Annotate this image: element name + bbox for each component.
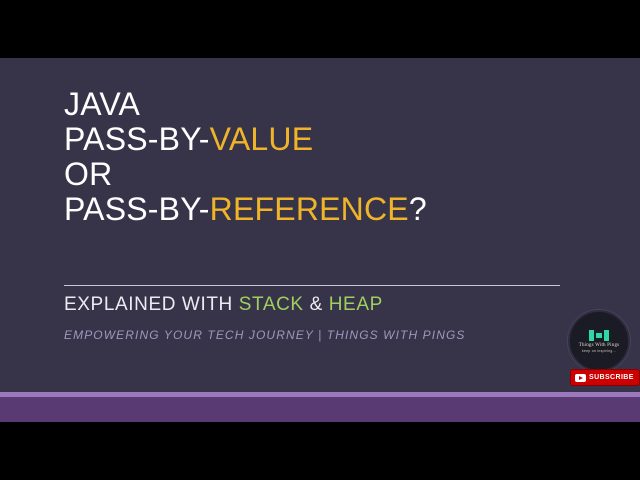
subtitle-separator: & — [304, 294, 329, 315]
channel-logo: Things With Pings keep on inspiring... — [568, 310, 630, 372]
title-divider — [64, 285, 560, 286]
title-line-3: OR — [64, 157, 564, 192]
title-line-4-plain: PASS-BY- — [64, 191, 210, 227]
title-line-1: JAVA — [64, 87, 564, 122]
subscribe-button-label: SUBSCRIBE — [589, 374, 634, 381]
subscribe-button[interactable]: SUBSCRIBE — [571, 370, 639, 385]
title-line-3-text: OR — [64, 156, 112, 192]
slide-canvas: JAVA PASS-BY-VALUE OR PASS-BY-REFERENCE?… — [0, 58, 640, 422]
subtitle-term-stack: STACK — [239, 294, 304, 315]
channel-logo-name: Things With Pings — [579, 343, 620, 348]
title-line-1-text: JAVA — [64, 86, 140, 122]
title-line-4-suffix: ? — [409, 191, 427, 227]
title-line-2-plain: PASS-BY- — [64, 121, 210, 157]
accent-band-dark — [0, 397, 640, 422]
title-line-2: PASS-BY-VALUE — [64, 122, 564, 157]
title-line-4: PASS-BY-REFERENCE? — [64, 192, 564, 227]
brand-mark-icon — [589, 330, 609, 341]
subtitle-term-heap: HEAP — [329, 294, 383, 315]
tagline: EMPOWERING YOUR TECH JOURNEY | THINGS WI… — [64, 327, 466, 343]
letterbox-bottom — [0, 422, 640, 480]
youtube-play-icon — [575, 374, 586, 382]
title-line-2-highlight: VALUE — [210, 121, 314, 157]
subtitle-prefix: EXPLAINED WITH — [64, 294, 239, 315]
letterbox-top — [0, 0, 640, 58]
subtitle: EXPLAINED WITH STACK & HEAP — [64, 293, 383, 317]
title-line-4-highlight: REFERENCE — [210, 191, 409, 227]
video-thumbnail: JAVA PASS-BY-VALUE OR PASS-BY-REFERENCE?… — [0, 0, 640, 480]
channel-logo-tagline: keep on inspiring... — [582, 349, 616, 353]
title-block: JAVA PASS-BY-VALUE OR PASS-BY-REFERENCE? — [64, 87, 564, 227]
